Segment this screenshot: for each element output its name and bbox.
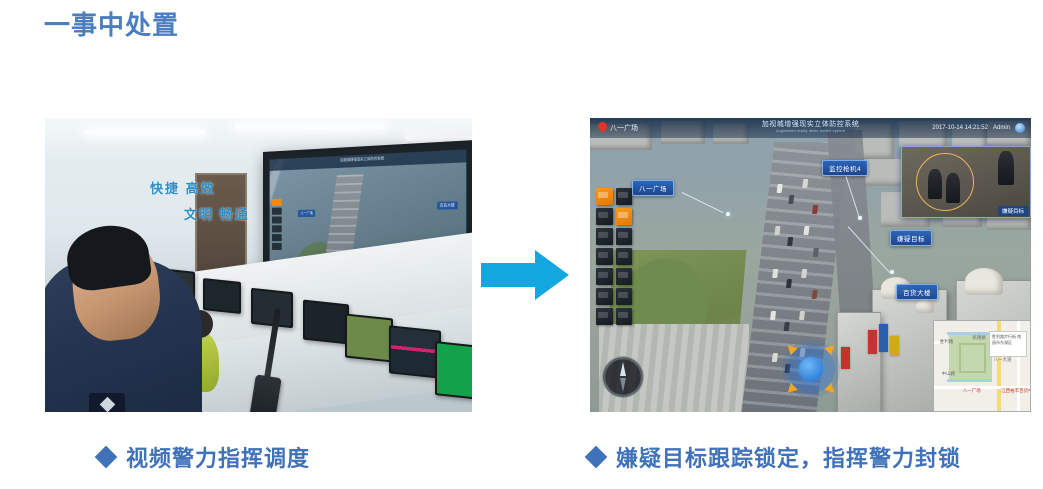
caption-right: 嫌疑目标跟踪锁定，指挥警力封锁	[588, 441, 961, 473]
minimap-label-road-c: 民德路	[972, 335, 986, 341]
video-wall-title: 加视城增强现实立体防控系统	[340, 156, 384, 164]
shop-signage	[868, 330, 877, 354]
anchor-dot	[726, 212, 730, 216]
camera-button[interactable]	[616, 248, 633, 265]
minimap-water	[947, 379, 991, 382]
flow-arrow-icon	[481, 249, 569, 301]
video-wall-tag-mall: 百货大楼	[437, 201, 458, 209]
desk-monitor	[345, 313, 393, 362]
dome-roof	[965, 268, 1003, 295]
wall-slogan-line1: 快捷 高效	[150, 176, 300, 202]
minimap-label-mall: 江西裕丰百货中心	[1001, 388, 1031, 394]
current-location[interactable]: 八一广场	[598, 122, 638, 134]
minimap-label-plaza: 八一广场	[963, 388, 981, 394]
ar-label-suspect[interactable]: 嫌疑目标	[890, 230, 932, 246]
camera-button[interactable]	[616, 268, 633, 285]
camera-button[interactable]	[596, 228, 613, 245]
avatar[interactable]	[1015, 123, 1025, 133]
pedestrian-figure	[998, 151, 1014, 185]
ar-label-store[interactable]: 百货大楼	[896, 284, 938, 300]
location-label: 八一广场	[610, 123, 638, 133]
caption-left: 视频警力指挥调度	[98, 441, 310, 473]
camera-button[interactable]	[616, 188, 633, 205]
rank-insignia	[89, 393, 125, 412]
system-title-en: Augmented reality demo control system	[762, 129, 860, 133]
desk-monitor	[203, 278, 241, 314]
system-title-cn: 加视城增强现实立体防控系统	[762, 119, 860, 129]
minimap-label-avenue: 八一大道	[994, 357, 1012, 363]
desk-monitor	[303, 300, 349, 345]
camera-button[interactable]	[596, 288, 613, 305]
suspect-zoom-inset[interactable]: 嫌疑目标	[901, 146, 1031, 218]
camera-button[interactable]	[616, 228, 633, 245]
minimap[interactable]: 八一广场 江西裕丰百货中心 八一大道 中山路 胜利路 民德路 胜利路步行街 南昌…	[933, 320, 1031, 412]
camera-button[interactable]	[596, 208, 613, 225]
police-command-center-photo: 加视城增强现实立体防控系统 八一广场 百货大楼 快捷 高效 文明 畅通	[45, 118, 472, 412]
camera-button[interactable]	[596, 268, 613, 285]
target-lock-indicator[interactable]	[782, 340, 840, 398]
video-wall-tag-plaza: 八一广场	[298, 210, 315, 217]
wall-slogan: 快捷 高效 文明 畅通	[150, 176, 300, 228]
topbar-status: 2017-10-14 14:21:52 Admin	[932, 123, 1025, 133]
anchor-dot	[890, 270, 894, 274]
camera-icon	[272, 234, 282, 241]
camera-button[interactable]	[616, 208, 633, 225]
ar-topbar: 八一广场 加视城增强现实立体防控系统 Augmented reality dem…	[590, 118, 1031, 138]
caption-right-text: 嫌疑目标跟踪锁定，指挥警力封锁	[616, 441, 961, 473]
desk-monitor	[389, 325, 441, 378]
dome-roof	[916, 300, 934, 313]
ceiling-light	[85, 130, 205, 135]
camera-button[interactable]	[616, 288, 633, 305]
camera-button[interactable]	[596, 248, 613, 265]
datetime-label: 2017-10-14 14:21:52	[932, 125, 988, 131]
caption-left-text: 视频警力指挥调度	[126, 441, 310, 473]
wall-slogan-line2: 文明 畅通	[150, 202, 300, 228]
ar-surveillance-system-screenshot: 八一广场 加视城增强现实立体防控系统 Augmented reality dem…	[590, 118, 1031, 412]
minimap-tooltip: 胜利路步行街 南昌市东湖区	[989, 331, 1027, 357]
username-label: Admin	[993, 125, 1010, 131]
shop-signage	[841, 347, 850, 369]
camera-toolbar[interactable]	[596, 188, 632, 325]
slide-root: 一事中处置 加视城增强现实立体防控系统 八一广场 百货大楼	[0, 0, 1043, 489]
shop-signage	[890, 336, 899, 356]
anchor-dot	[858, 216, 862, 220]
camera-button[interactable]	[616, 308, 633, 325]
minimap-label-road-b: 胜利路	[940, 339, 954, 345]
ceiling-light	[235, 124, 385, 129]
suspect-highlight-circle	[916, 153, 974, 211]
insignia-star	[99, 397, 115, 412]
compass-icon[interactable]	[602, 356, 644, 398]
system-title: 加视城增强现实立体防控系统 Augmented reality demo con…	[762, 119, 860, 133]
camera-button[interactable]	[596, 188, 613, 205]
desk-monitor	[435, 341, 472, 401]
ar-label-camera4[interactable]: 监控枪机4	[822, 160, 868, 176]
inset-caption: 嫌疑目标	[998, 206, 1028, 216]
diamond-bullet-icon	[585, 446, 608, 469]
ar-label-plaza[interactable]: 八一广场	[632, 180, 674, 196]
minimap-label-road-a: 中山路	[942, 371, 956, 377]
diamond-bullet-icon	[95, 446, 118, 469]
shop-signage	[879, 324, 888, 352]
page-title: 一事中处置	[44, 8, 179, 42]
camera-icon	[272, 243, 282, 250]
lock-core	[799, 357, 823, 381]
location-pin-icon	[598, 122, 607, 134]
camera-button[interactable]	[596, 308, 613, 325]
